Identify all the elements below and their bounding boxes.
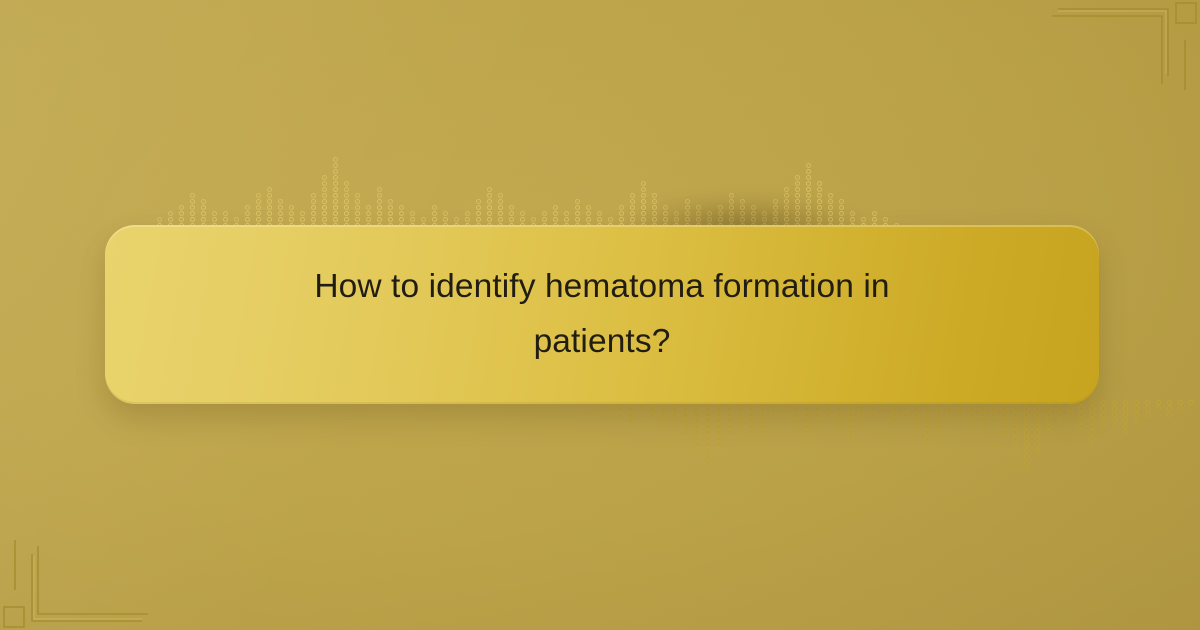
waveform-ring-dot (848, 412, 853, 417)
waveform-ring-dot (1189, 400, 1194, 405)
waveform-ring-dot (1101, 406, 1106, 411)
waveform-ring-dot (872, 217, 877, 222)
waveform-column (1089, 400, 1096, 441)
waveform-ring-dot (784, 205, 789, 210)
waveform-ring-dot (1079, 412, 1084, 417)
waveform-column (682, 400, 689, 435)
waveform-ring-dot (333, 169, 338, 174)
waveform-ring-dot (289, 211, 294, 216)
waveform-ring-dot (311, 193, 316, 198)
waveform-ring-dot (806, 193, 811, 198)
waveform-ring-dot (1013, 424, 1018, 429)
waveform-ring-dot (234, 217, 239, 222)
waveform-ring-dot (694, 430, 699, 435)
waveform-ring-dot (619, 205, 624, 210)
waveform-ring-dot (553, 217, 558, 222)
waveform-ring-dot (1090, 424, 1095, 429)
waveform-ring-dot (771, 406, 776, 411)
waveform-column (354, 193, 361, 228)
waveform-ring-dot (1090, 400, 1095, 405)
waveform-ring-dot (848, 436, 853, 441)
waveform-ring-dot (1002, 418, 1007, 423)
waveform-ring-dot (903, 412, 908, 417)
waveform-ring-dot (760, 412, 765, 417)
waveform-ring-dot (322, 211, 327, 216)
waveform-ring-dot (980, 406, 985, 411)
waveform-ring-dot (1002, 412, 1007, 417)
waveform-ring-dot (969, 406, 974, 411)
waveform-column (343, 181, 350, 228)
waveform-ring-dot (1178, 406, 1183, 411)
waveform-ring-dot (859, 412, 864, 417)
waveform-column (816, 181, 823, 228)
waveform-ring-dot (509, 217, 514, 222)
waveform-ring-dot (828, 199, 833, 204)
waveform-ring-dot (806, 217, 811, 222)
waveform-ring-dot (564, 217, 569, 222)
waveform-ring-dot (608, 217, 613, 222)
waveform-ring-dot (749, 412, 754, 417)
waveform-ring-dot (639, 406, 644, 411)
waveform-ring-dot (1112, 412, 1117, 417)
waveform-column (629, 193, 636, 228)
waveform-ring-dot (1024, 412, 1029, 417)
waveform-ring-dot (388, 205, 393, 210)
waveform-ring-dot (476, 199, 481, 204)
waveform-column (277, 199, 284, 228)
waveform-ring-dot (958, 406, 963, 411)
waveform-ring-dot (487, 199, 492, 204)
waveform-ring-dot (729, 193, 734, 198)
waveform-ring-dot (1167, 406, 1172, 411)
waveform-ring-dot (716, 412, 721, 417)
waveform-ring-dot (716, 436, 721, 441)
waveform-ring-dot (980, 418, 985, 423)
waveform-ring-dot (498, 205, 503, 210)
waveform-ring-dot (476, 205, 481, 210)
waveform-ring-dot (727, 418, 732, 423)
waveform-ring-dot (1134, 412, 1139, 417)
waveform-ring-dot (1134, 400, 1139, 405)
waveform-ring-dot (1090, 412, 1095, 417)
waveform-ring-dot (1046, 418, 1051, 423)
waveform-ring-dot (366, 217, 371, 222)
waveform-column (651, 193, 658, 228)
waveform-ring-dot (694, 442, 699, 447)
waveform-ring-dot (694, 448, 699, 453)
waveform-ring-dot (1145, 406, 1150, 411)
waveform-ring-dot (201, 217, 206, 222)
waveform-ring-dot (168, 217, 173, 222)
waveform-ring-dot (784, 193, 789, 198)
waveform-ring-dot (333, 193, 338, 198)
waveform-ring-dot (388, 211, 393, 216)
waveform-ring-dot (694, 436, 699, 441)
waveform-ring-dot (696, 217, 701, 222)
question-card-banner: How to identify hematoma formation in pa… (0, 0, 1200, 630)
waveform-ring-dot (1046, 424, 1051, 429)
waveform-ring-dot (157, 217, 162, 222)
waveform-ring-dot (652, 217, 657, 222)
waveform-ring-dot (1013, 406, 1018, 411)
waveform-ring-dot (685, 211, 690, 216)
waveform-column (266, 187, 273, 228)
waveform-ring-dot (179, 217, 184, 222)
waveform-ring-dot (1002, 406, 1007, 411)
waveform-ring-dot (826, 412, 831, 417)
waveform-column (858, 400, 865, 429)
waveform-ring-dot (399, 211, 404, 216)
waveform-ring-dot (784, 187, 789, 192)
waveform-ring-dot (729, 217, 734, 222)
waveform-column (574, 199, 581, 228)
waveform-ring-dot (586, 217, 591, 222)
waveform-ring-dot (839, 217, 844, 222)
waveform-ring-dot (685, 199, 690, 204)
waveform-ring-dot (641, 199, 646, 204)
waveform-ring-dot (837, 424, 842, 429)
waveform-ring-dot (333, 175, 338, 180)
waveform-ring-dot (575, 205, 580, 210)
waveform-ring-dot (925, 442, 930, 447)
waveform-ring-dot (1035, 442, 1040, 447)
waveform-ring-dot (628, 406, 633, 411)
waveform-ring-dot (784, 211, 789, 216)
waveform-ring-dot (716, 418, 721, 423)
waveform-ring-dot (421, 217, 426, 222)
waveform-column (728, 193, 735, 228)
waveform-ring-dot (683, 412, 688, 417)
waveform-ring-dot (322, 199, 327, 204)
waveform-ring-dot (892, 418, 897, 423)
waveform-ring-dot (520, 217, 525, 222)
waveform-ring-dot (256, 193, 261, 198)
waveform-ring-dot (806, 199, 811, 204)
waveform-ring-dot (859, 424, 864, 429)
waveform-ring-dot (1123, 400, 1128, 405)
waveform-ring-dot (663, 205, 668, 210)
waveform-ring-dot (850, 217, 855, 222)
waveform-ring-dot (1145, 400, 1150, 405)
waveform-column (1078, 400, 1085, 429)
waveform-ring-dot (575, 217, 580, 222)
waveform-ring-dot (617, 406, 622, 411)
waveform-ring-dot (190, 217, 195, 222)
waveform-ring-dot (597, 217, 602, 222)
waveform-ring-dot (355, 199, 360, 204)
waveform-ring-dot (696, 211, 701, 216)
waveform-column (497, 193, 504, 228)
waveform-ring-dot (936, 418, 941, 423)
waveform-ring-dot (727, 412, 732, 417)
waveform-ring-dot (366, 211, 371, 216)
waveform-ring-dot (454, 217, 459, 222)
waveform-column (836, 400, 843, 429)
waveform-ring-dot (531, 217, 536, 222)
waveform-ring-dot (782, 406, 787, 411)
waveform-ring-dot (333, 181, 338, 186)
waveform-ring-dot (793, 418, 798, 423)
waveform-ring-dot (1035, 412, 1040, 417)
waveform-ring-dot (1123, 406, 1128, 411)
waveform-ring-dot (311, 199, 316, 204)
waveform-ring-dot (817, 199, 822, 204)
waveform-ring-dot (443, 217, 448, 222)
waveform-ring-dot (883, 217, 888, 222)
waveform-ring-dot (696, 205, 701, 210)
waveform-ring-dot (267, 199, 272, 204)
waveform-ring-dot (1013, 448, 1018, 453)
waveform-column (935, 400, 942, 435)
waveform-ring-dot (311, 205, 316, 210)
waveform-ring-dot (969, 418, 974, 423)
waveform-ring-dot (344, 205, 349, 210)
waveform-ring-dot (212, 217, 217, 222)
waveform-ring-dot (377, 193, 382, 198)
waveform-ring-dot (606, 406, 611, 411)
waveform-ring-dot (278, 199, 283, 204)
waveform-ring-dot (1134, 418, 1139, 423)
waveform-ring-dot (914, 418, 919, 423)
waveform-ring-dot (793, 412, 798, 417)
waveform-ring-dot (1123, 412, 1128, 417)
waveform-ring-dot (267, 187, 272, 192)
waveform-ring-dot (322, 193, 327, 198)
waveform-ring-dot (256, 217, 261, 222)
waveform-ring-dot (773, 205, 778, 210)
waveform-ring-dot (542, 211, 547, 216)
waveform-column (805, 163, 812, 228)
waveform-ring-dot (738, 406, 743, 411)
waveform-ring-dot (925, 418, 930, 423)
waveform-ring-dot (267, 193, 272, 198)
waveform-ring-dot (991, 406, 996, 411)
waveform-ring-dot (641, 217, 646, 222)
waveform-ring-dot (322, 181, 327, 186)
waveform-ring-dot (410, 217, 415, 222)
waveform-ring-dot (817, 193, 822, 198)
waveform-ring-dot (179, 211, 184, 216)
waveform-ring-dot (256, 199, 261, 204)
waveform-column (387, 199, 394, 228)
waveform-ring-dot (333, 157, 338, 162)
waveform-ring-dot (1035, 436, 1040, 441)
waveform-ring-dot (694, 424, 699, 429)
waveform-ring-dot (355, 205, 360, 210)
waveform-ring-dot (355, 211, 360, 216)
waveform-ring-dot (892, 406, 897, 411)
waveform-ring-dot (617, 412, 622, 417)
waveform-ring-dot (355, 217, 360, 222)
waveform-ring-dot (355, 193, 360, 198)
waveform-ring-dot (705, 412, 710, 417)
waveform-ring-dot (936, 430, 941, 435)
waveform-ring-dot (476, 217, 481, 222)
waveform-ring-dot (333, 211, 338, 216)
waveform-ring-dot (1090, 406, 1095, 411)
waveform-ring-dot (322, 217, 327, 222)
waveform-ring-dot (1013, 436, 1018, 441)
waveform-ring-dot (815, 418, 820, 423)
waveform-ring-dot (727, 430, 732, 435)
waveform-ring-dot (564, 211, 569, 216)
waveform-ring-dot (749, 406, 754, 411)
waveform-ring-dot (1024, 424, 1029, 429)
waveform-ring-dot (828, 217, 833, 222)
waveform-ring-dot (729, 199, 734, 204)
waveform-ring-dot (498, 199, 503, 204)
waveform-ring-dot (839, 211, 844, 216)
waveform-ring-dot (817, 217, 822, 222)
waveform-ring-dot (804, 424, 809, 429)
waveform-ring-dot (586, 211, 591, 216)
waveform-ring-dot (1068, 406, 1073, 411)
waveform-ring-dot (1046, 430, 1051, 435)
waveform-ring-dot (795, 205, 800, 210)
waveform-ring-dot (892, 412, 897, 417)
waveform-column (1111, 400, 1118, 423)
waveform-ring-dot (575, 199, 580, 204)
waveform-ring-dot (399, 217, 404, 222)
waveform-ring-dot (969, 412, 974, 417)
waveform-ring-dot (705, 442, 710, 447)
waveform-ring-dot (245, 211, 250, 216)
waveform-ring-dot (795, 187, 800, 192)
waveform-ring-dot (1046, 412, 1051, 417)
waveform-ring-dot (991, 412, 996, 417)
waveform-ring-dot (806, 163, 811, 168)
waveform-ring-dot (1123, 430, 1128, 435)
waveform-ring-dot (179, 205, 184, 210)
waveform-ring-dot (190, 193, 195, 198)
waveform-column (759, 400, 766, 429)
waveform-ring-dot (630, 217, 635, 222)
waveform-ring-dot (619, 217, 624, 222)
waveform-column (1023, 400, 1030, 471)
waveform-ring-dot (903, 406, 908, 411)
waveform-ring-dot (806, 205, 811, 210)
waveform-ring-dot (784, 217, 789, 222)
waveform-ring-dot (650, 406, 655, 411)
waveform-ring-dot (586, 205, 591, 210)
waveform-column (783, 187, 790, 228)
waveform-ring-dot (1101, 418, 1106, 423)
waveform-ring-dot (674, 211, 679, 216)
waveform-ring-dot (399, 205, 404, 210)
waveform-ring-dot (377, 199, 382, 204)
waveform-column (1122, 400, 1129, 435)
waveform-ring-dot (652, 211, 657, 216)
waveform-ring-dot (729, 205, 734, 210)
waveform-ring-dot (597, 211, 602, 216)
waveform-column (803, 400, 810, 435)
waveform-ring-dot (628, 418, 633, 423)
waveform-ring-dot (322, 187, 327, 192)
waveform-ring-dot (1101, 400, 1106, 405)
waveform-ring-dot (705, 430, 710, 435)
waveform-ring-dot (366, 205, 371, 210)
waveform-ring-dot (465, 211, 470, 216)
waveform-column (1155, 400, 1162, 411)
waveform-ring-dot (740, 205, 745, 210)
waveform-ring-dot (1024, 442, 1029, 447)
waveform-ring-dot (432, 217, 437, 222)
waveform-ring-dot (815, 406, 820, 411)
waveform-column (684, 199, 691, 228)
waveform-ring-dot (751, 217, 756, 222)
deco-corner-bottom-left-icon (0, 540, 180, 630)
waveform-column (1188, 400, 1195, 405)
waveform-ring-dot (1024, 466, 1029, 471)
waveform-ring-dot (828, 193, 833, 198)
waveform-ring-dot (289, 217, 294, 222)
waveform-ring-dot (828, 205, 833, 210)
waveform-ring-dot (740, 199, 745, 204)
waveform-ring-dot (969, 424, 974, 429)
waveform-ring-dot (694, 418, 699, 423)
waveform-ring-dot (1079, 406, 1084, 411)
waveform-ring-dot (333, 187, 338, 192)
question-text: How to identify hematoma formation in pa… (257, 260, 947, 369)
waveform-ring-dot (850, 211, 855, 216)
waveform-ring-dot (487, 193, 492, 198)
waveform-ring-dot (749, 424, 754, 429)
waveform-ring-dot (947, 418, 952, 423)
waveform-ring-dot (947, 412, 952, 417)
waveform-ring-dot (683, 418, 688, 423)
waveform-column (660, 400, 667, 429)
waveform-column (748, 400, 755, 441)
waveform-ring-dot (652, 199, 657, 204)
waveform-ring-dot (498, 211, 503, 216)
waveform-ring-dot (947, 406, 952, 411)
waveform-ring-dot (795, 217, 800, 222)
waveform-ring-dot (861, 217, 866, 222)
waveform-column (475, 199, 482, 228)
waveform-ring-dot (498, 193, 503, 198)
waveform-ring-dot (201, 199, 206, 204)
waveform-ring-dot (806, 175, 811, 180)
waveform-column (255, 193, 262, 228)
waveform-column (200, 199, 207, 228)
waveform-ring-dot (795, 193, 800, 198)
waveform-ring-dot (1090, 436, 1095, 441)
waveform-ring-dot (740, 217, 745, 222)
waveform-ring-dot (806, 169, 811, 174)
waveform-ring-dot (727, 406, 732, 411)
waveform-ring-dot (432, 205, 437, 210)
waveform-ring-dot (795, 199, 800, 204)
waveform-ring-dot (377, 211, 382, 216)
waveform-ring-dot (344, 187, 349, 192)
waveform-ring-dot (817, 181, 822, 186)
waveform-ring-dot (773, 217, 778, 222)
waveform-ring-dot (828, 211, 833, 216)
waveform-ring-dot (661, 424, 666, 429)
waveform-ring-dot (278, 217, 283, 222)
waveform-column (1034, 400, 1041, 453)
waveform-ring-dot (1079, 418, 1084, 423)
waveform-ring-dot (936, 406, 941, 411)
waveform-ring-dot (751, 205, 756, 210)
waveform-ring-dot (652, 205, 657, 210)
waveform-ring-dot (760, 418, 765, 423)
waveform-ring-dot (773, 211, 778, 216)
waveform-ring-dot (718, 217, 723, 222)
waveform-ring-dot (168, 211, 173, 216)
waveform-ring-dot (925, 412, 930, 417)
waveform-ring-dot (487, 217, 492, 222)
